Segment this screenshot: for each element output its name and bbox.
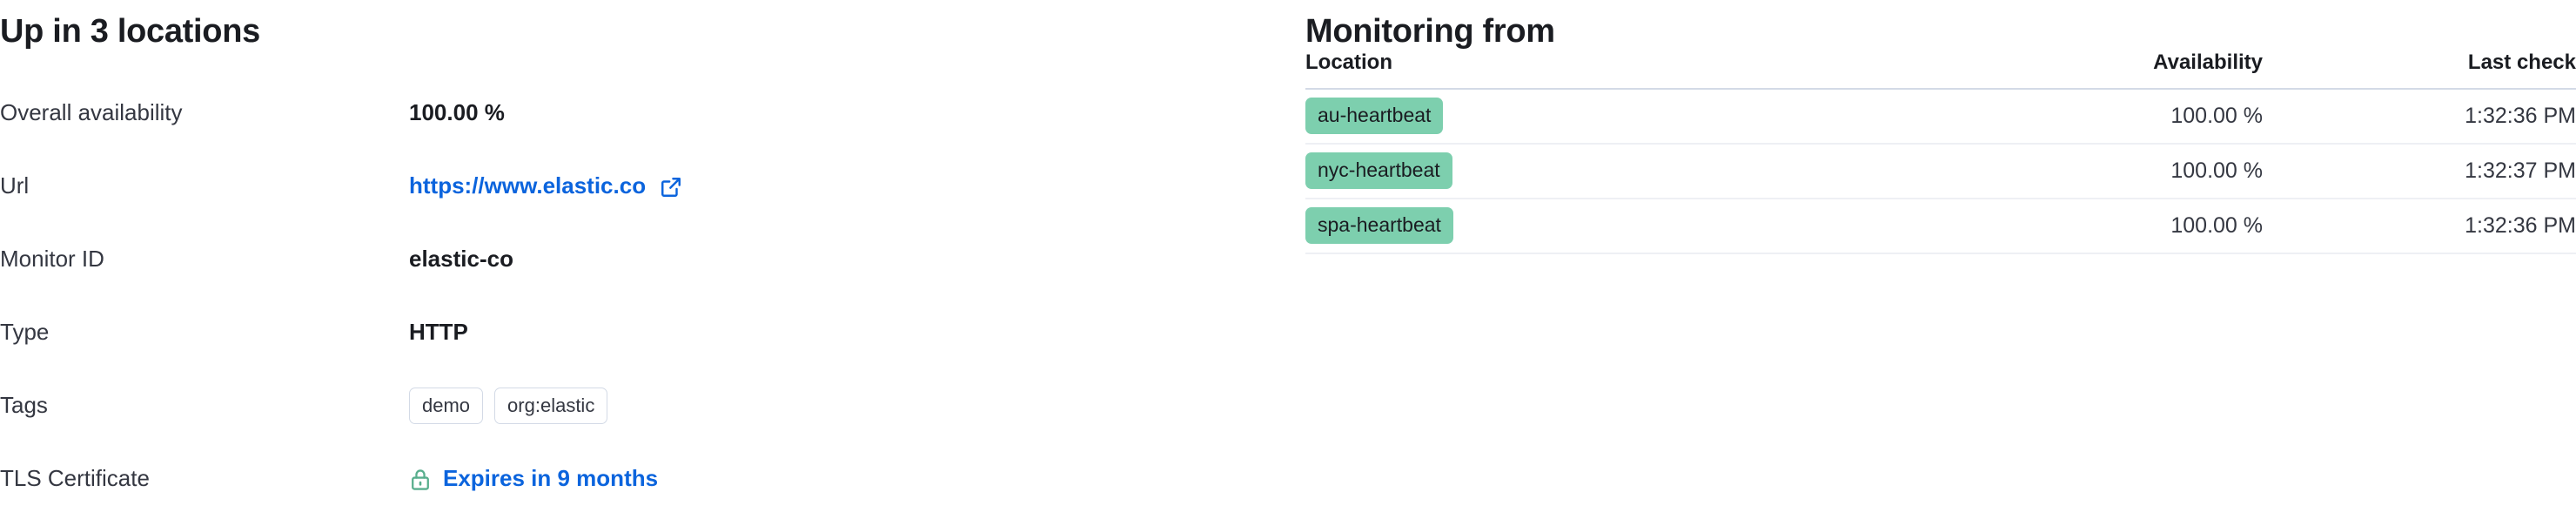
meta-row-tls-certificate: TLS Certificate Expires in 9 months: [0, 442, 1305, 516]
column-header-last-check[interactable]: Last check: [2263, 51, 2576, 89]
meta-row-tags: Tags demo org:elastic: [0, 369, 1305, 442]
cell-last-check: 1:32:36 PM: [2263, 89, 2576, 144]
meta-value-monitor-id: elastic-co: [409, 246, 513, 273]
cell-last-check: 1:32:37 PM: [2263, 144, 2576, 199]
cell-location: au-heartbeat: [1305, 89, 1845, 144]
table-header-row: Location Availability Last check: [1305, 51, 2576, 89]
tls-certificate-link[interactable]: Expires in 9 months: [409, 465, 658, 492]
tag-badge[interactable]: org:elastic: [494, 388, 607, 425]
cell-availability: 100.00 %: [1845, 144, 2263, 199]
meta-label-monitor-id: Monitor ID: [0, 246, 409, 273]
monitoring-from-title: Monitoring from: [1305, 0, 2576, 51]
meta-label-type: Type: [0, 319, 409, 346]
column-header-location[interactable]: Location: [1305, 51, 1845, 89]
column-header-availability[interactable]: Availability: [1845, 51, 2263, 89]
page-title: Up in 3 locations: [0, 0, 1305, 51]
meta-label-tls-certificate: TLS Certificate: [0, 465, 409, 492]
cell-availability: 100.00 %: [1845, 199, 2263, 253]
monitor-summary-panel: Up in 3 locations Overall availability 1…: [0, 0, 1305, 519]
cell-location: nyc-heartbeat: [1305, 144, 1845, 199]
meta-value-type: HTTP: [409, 319, 468, 346]
cell-location: spa-heartbeat: [1305, 199, 1845, 253]
meta-row-monitor-id: Monitor ID elastic-co: [0, 223, 1305, 296]
monitor-url-text: https://www.elastic.co: [409, 172, 646, 199]
meta-label-overall-availability: Overall availability: [0, 99, 409, 126]
cell-last-check: 1:32:36 PM: [2263, 199, 2576, 253]
cell-availability: 100.00 %: [1845, 89, 2263, 144]
lock-icon: [409, 468, 432, 492]
location-badge[interactable]: spa-heartbeat: [1305, 207, 1453, 245]
tag-list: demo org:elastic: [409, 388, 607, 425]
meta-label-url: Url: [0, 172, 409, 199]
location-badge[interactable]: au-heartbeat: [1305, 98, 1443, 135]
tag-badge[interactable]: demo: [409, 388, 483, 425]
external-link-icon: [660, 176, 682, 199]
table-row: spa-heartbeat 100.00 % 1:32:36 PM: [1305, 199, 2576, 253]
monitor-meta-list: Overall availability 100.00 % Url https:…: [0, 77, 1305, 516]
meta-value-overall-availability: 100.00 %: [409, 99, 505, 126]
locations-table-wrapper: Location Availability Last check au-hear…: [1305, 51, 2576, 254]
meta-row-overall-availability: Overall availability 100.00 %: [0, 77, 1305, 150]
monitor-detail-page: Up in 3 locations Overall availability 1…: [0, 0, 2576, 519]
meta-row-url: Url https://www.elastic.co: [0, 150, 1305, 223]
table-row: nyc-heartbeat 100.00 % 1:32:37 PM: [1305, 144, 2576, 199]
locations-table-head: Location Availability Last check: [1305, 51, 2576, 89]
tls-certificate-text: Expires in 9 months: [443, 465, 658, 492]
meta-label-tags: Tags: [0, 392, 409, 419]
monitor-url-link[interactable]: https://www.elastic.co: [409, 172, 682, 199]
locations-table-body: au-heartbeat 100.00 % 1:32:36 PM nyc-hea…: [1305, 89, 2576, 253]
locations-table: Location Availability Last check au-hear…: [1305, 51, 2576, 254]
meta-row-type: Type HTTP: [0, 296, 1305, 369]
location-badge[interactable]: nyc-heartbeat: [1305, 152, 1452, 190]
table-row: au-heartbeat 100.00 % 1:32:36 PM: [1305, 89, 2576, 144]
monitoring-locations-panel: Monitoring from Location Availability La…: [1305, 0, 2576, 519]
